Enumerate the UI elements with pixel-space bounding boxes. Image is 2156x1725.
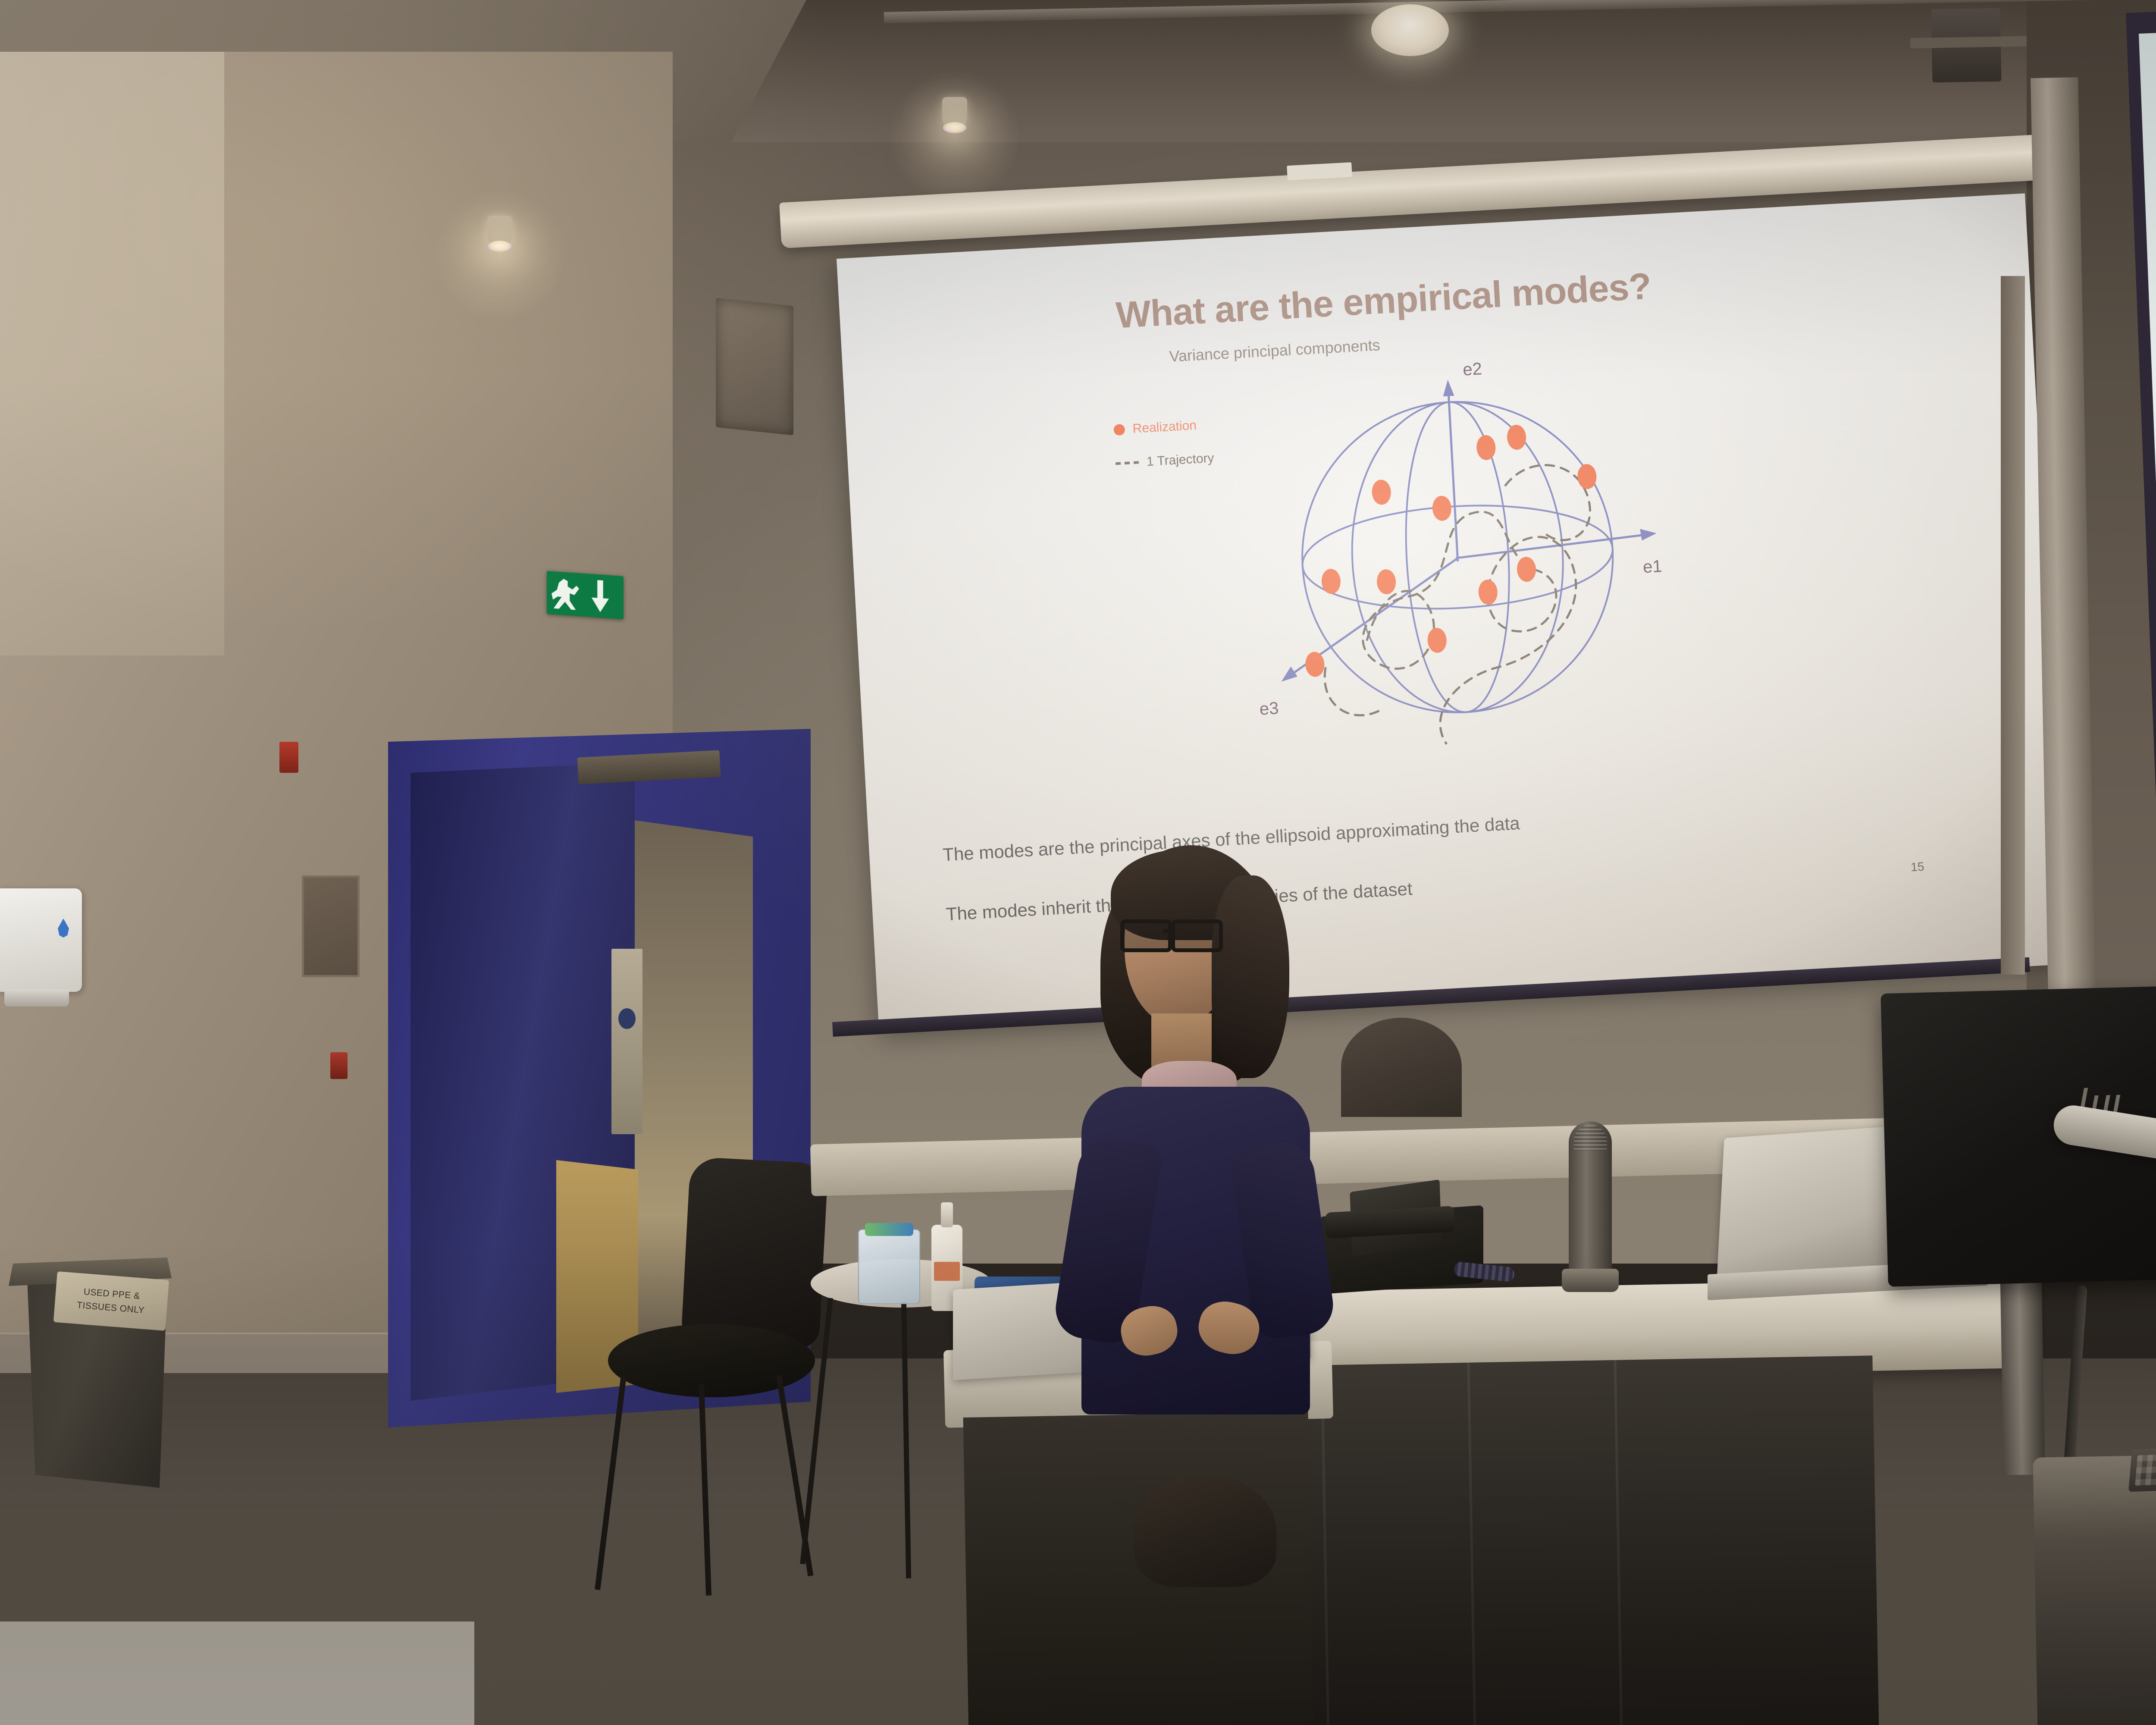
disinfectant-wipes-container[interactable] [858,1229,920,1304]
presenter [1069,845,1397,1414]
slide-title: What are the empirical modes? [1115,265,1652,337]
dispenser-drip-tray [4,989,69,1007]
lecture-hall-scene: USED PPE & TISSUES ONLY What are the emp… [0,0,2156,1725]
axis-label-e1: e1 [1642,557,1663,577]
slide-number: 15 [1910,860,1924,875]
ceiling-spotlight [942,97,967,129]
ceiling-light-fixture [1371,4,1449,56]
legend-item-trajectory: 1 Trajectory [1115,451,1214,471]
bin-label-line-2: TISSUES ONLY [76,1300,145,1316]
sphere-svg: e2 e1 e3 [1223,346,1702,772]
keyboard-keys [2135,1446,2156,1486]
glasses-icon [1120,919,1228,944]
door-push-plate[interactable] [611,949,642,1134]
left-wall-upper [0,52,224,655]
emergency-exit-icon [547,571,624,619]
presentation-slide: What are the empirical modes? Variance p… [837,193,2067,1029]
exit-arrow-glyph [588,579,612,613]
axis-label-e2: e2 [1462,359,1482,379]
realization-points [1293,420,1607,677]
water-drop-icon [56,919,71,938]
wall-speaker [716,298,793,436]
exit-runner-glyph [550,576,584,612]
axis-label-e3: e3 [1259,699,1279,718]
wall-notice-frame [302,875,360,977]
ceiling-spotlight [487,216,512,248]
slide-legend: Realization 1 Trajectory [1113,417,1216,490]
fire-alarm-box[interactable] [330,1052,348,1079]
microphone-grille [1574,1125,1607,1151]
stool-seat [608,1324,815,1397]
legend-label: 1 Trajectory [1146,451,1214,470]
screen-support-post [2001,276,2025,975]
audience-head [1134,1475,1276,1587]
dashed-line-icon [1116,461,1139,465]
podium-microphone[interactable] [1569,1121,1612,1289]
projector-mount [1931,8,2002,83]
waste-bin-label: USED PPE & TISSUES ONLY [53,1271,169,1331]
projection-screen: What are the empirical modes? Variance p… [837,193,2067,1029]
hand-sanitizer-dispenser[interactable] [0,888,82,992]
realization-dot-icon [1113,424,1125,436]
legend-label: Realization [1132,418,1197,436]
floor-front-step [0,1621,474,1725]
presenter-hair-side [1212,875,1289,1078]
bin-label-line-1: USED PPE & [83,1287,141,1302]
principal-axes-sphere-diagram: e2 e1 e3 [1223,346,1702,772]
fire-alarm-box[interactable] [279,742,298,773]
legend-item-realization: Realization [1113,417,1213,438]
microphone-base [1562,1269,1619,1292]
slide-subtitle: Variance principal components [1169,336,1380,366]
microphone-shaft [1569,1121,1612,1272]
bar-stool[interactable] [591,1160,832,1596]
stool-backrest [681,1157,828,1349]
